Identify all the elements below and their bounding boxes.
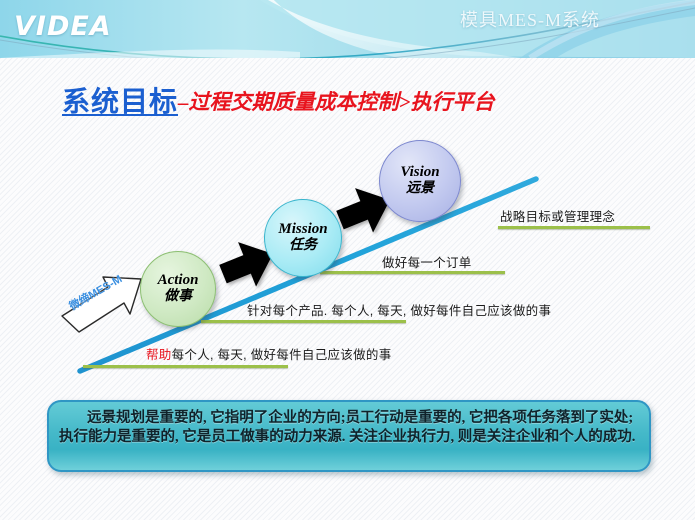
stage-action-en: Action — [158, 273, 199, 289]
caption-product-text: 针对每个产品. 每个人, 每天, 做好每件自己应该做的事 — [247, 304, 551, 318]
caption-strategy-text: 战略目标或管理理念 — [500, 210, 615, 224]
summary-callout-text: 远景规划是重要的, 它指明了企业的方向;员工行动是重要的, 它把各项任务落到了实… — [59, 409, 639, 447]
stage-action-cn: 做事 — [164, 289, 192, 305]
stage-circle-vision: Vision 远景 — [379, 140, 461, 222]
stage-circle-action: Action 做事 — [140, 251, 216, 327]
caption-strategy-rule — [498, 226, 650, 229]
summary-callout-box: 远景规划是重要的, 它指明了企业的方向;员工行动是重要的, 它把各项任务落到了实… — [47, 400, 651, 472]
caption-product: 针对每个产品. 每个人, 每天, 做好每件自己应该做的事 — [247, 300, 551, 319]
slide-canvas: VIDEA 模具MES-M系统 系统目标–过程交期质量成本控制>执行平台 — [0, 0, 695, 520]
page-title: 系统目标–过程交期质量成本控制>执行平台 — [62, 80, 494, 120]
videa-logo: VIDEA — [14, 11, 112, 42]
caption-help-rule — [83, 365, 288, 368]
page-title-subtitle: –过程交期质量成本控制>执行平台 — [178, 90, 494, 114]
caption-product-rule — [201, 320, 406, 323]
page-title-main: 系统目标 — [62, 87, 178, 118]
header-title: 模具MES-M系统 — [460, 6, 600, 32]
caption-strategy: 战略目标或管理理念 — [500, 206, 615, 225]
stage-circle-mission: Mission 任务 — [264, 199, 342, 277]
stage-mission-cn: 任务 — [289, 238, 317, 254]
caption-help-prefix: 帮助 — [146, 348, 172, 362]
caption-help: 帮助每个人, 每天, 做好每件自己应该做的事 — [146, 344, 392, 363]
stage-mission-en: Mission — [278, 222, 327, 238]
caption-order: 做好每一个订单 — [382, 252, 472, 271]
stage-vision-cn: 远景 — [406, 181, 434, 197]
stage-vision-en: Vision — [400, 165, 439, 181]
caption-order-text: 做好每一个订单 — [382, 256, 472, 270]
caption-order-rule — [320, 271, 505, 274]
caption-help-text: 每个人, 每天, 做好每件自己应该做的事 — [172, 348, 392, 362]
